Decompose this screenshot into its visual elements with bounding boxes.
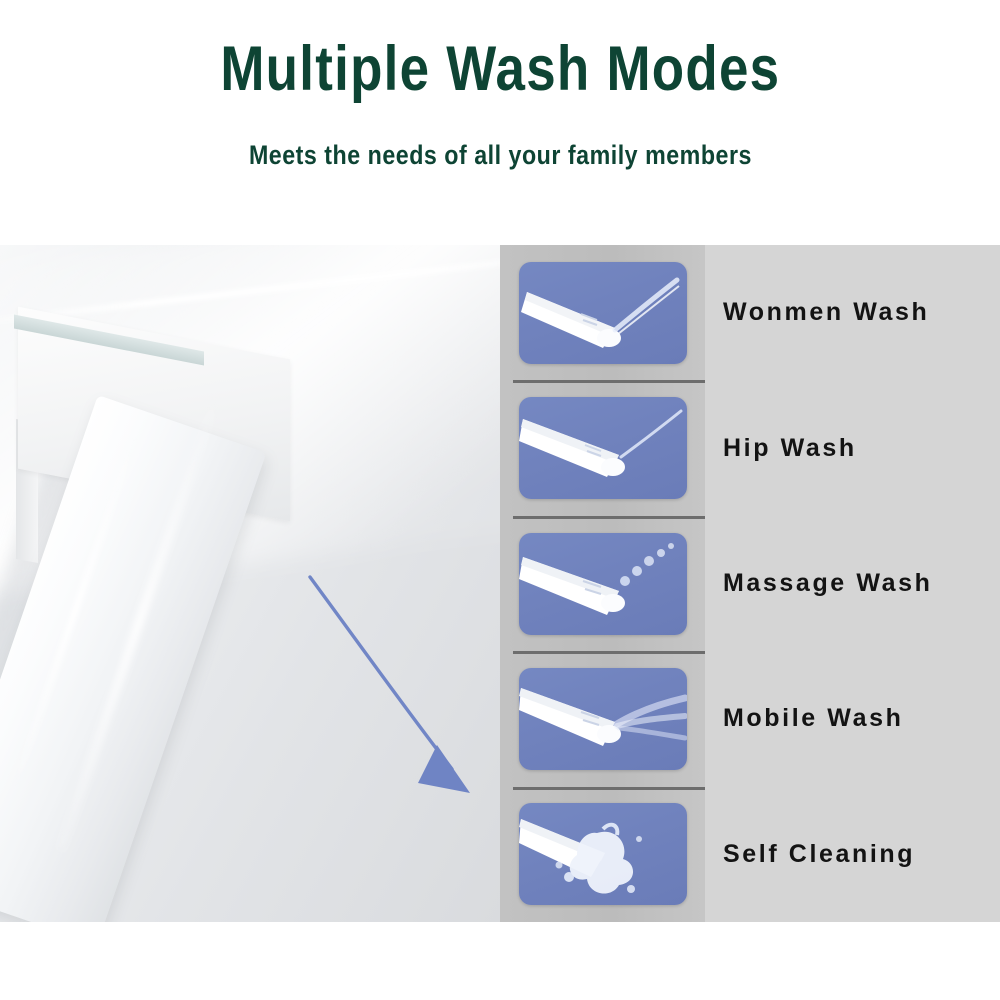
- thumbnail-row[interactable]: [500, 380, 705, 515]
- thumbnail-row[interactable]: [500, 516, 705, 651]
- mode-label: Hip Wash: [723, 434, 857, 463]
- thumbnail-row[interactable]: [500, 245, 705, 380]
- thumbnail-row[interactable]: [500, 787, 705, 922]
- page-title: Multiple Wash Modes: [220, 36, 780, 102]
- mode-row-mobile-wash[interactable]: Mobile Wash: [705, 651, 1000, 786]
- nozzle-spray-straight-icon: [519, 411, 681, 477]
- thumbnail-wonmen-wash[interactable]: [519, 262, 687, 364]
- feature-panel: Wonmen Wash Hip Wash Massage Wash Mobile…: [0, 245, 1000, 922]
- mode-thumbnail-rail: [500, 245, 705, 922]
- mode-label: Massage Wash: [723, 569, 933, 598]
- thumbnail-mobile-wash[interactable]: [519, 668, 687, 770]
- thumbnail-row[interactable]: [500, 651, 705, 786]
- header-banner: Multiple Wash Modes Meets the needs of a…: [0, 0, 1000, 245]
- nozzle-spray-up-icon: [521, 280, 679, 348]
- mode-label-column: Wonmen Wash Hip Wash Massage Wash Mobile…: [705, 245, 1000, 922]
- nozzle-spray-pulse-icon: [519, 543, 674, 615]
- thumbnail-hip-wash[interactable]: [519, 397, 687, 499]
- thumbnail-massage-wash[interactable]: [519, 533, 687, 635]
- mode-row-hip-wash[interactable]: Hip Wash: [705, 380, 1000, 515]
- nozzle-spray-wide-icon: [519, 688, 685, 746]
- footer-spacer: [0, 922, 1000, 1000]
- nozzle-splash-icon: [519, 819, 642, 894]
- mode-label: Mobile Wash: [723, 704, 903, 733]
- page-subtitle: Meets the needs of all your family membe…: [248, 140, 751, 171]
- mode-row-wonmen-wash[interactable]: Wonmen Wash: [705, 245, 1000, 380]
- mode-row-massage-wash[interactable]: Massage Wash: [705, 516, 1000, 651]
- mode-label: Wonmen Wash: [723, 298, 929, 327]
- thumbnail-self-cleaning[interactable]: [519, 803, 687, 905]
- product-photo: [0, 245, 500, 922]
- mode-label: Self Cleaning: [723, 840, 915, 869]
- mode-row-self-cleaning[interactable]: Self Cleaning: [705, 787, 1000, 922]
